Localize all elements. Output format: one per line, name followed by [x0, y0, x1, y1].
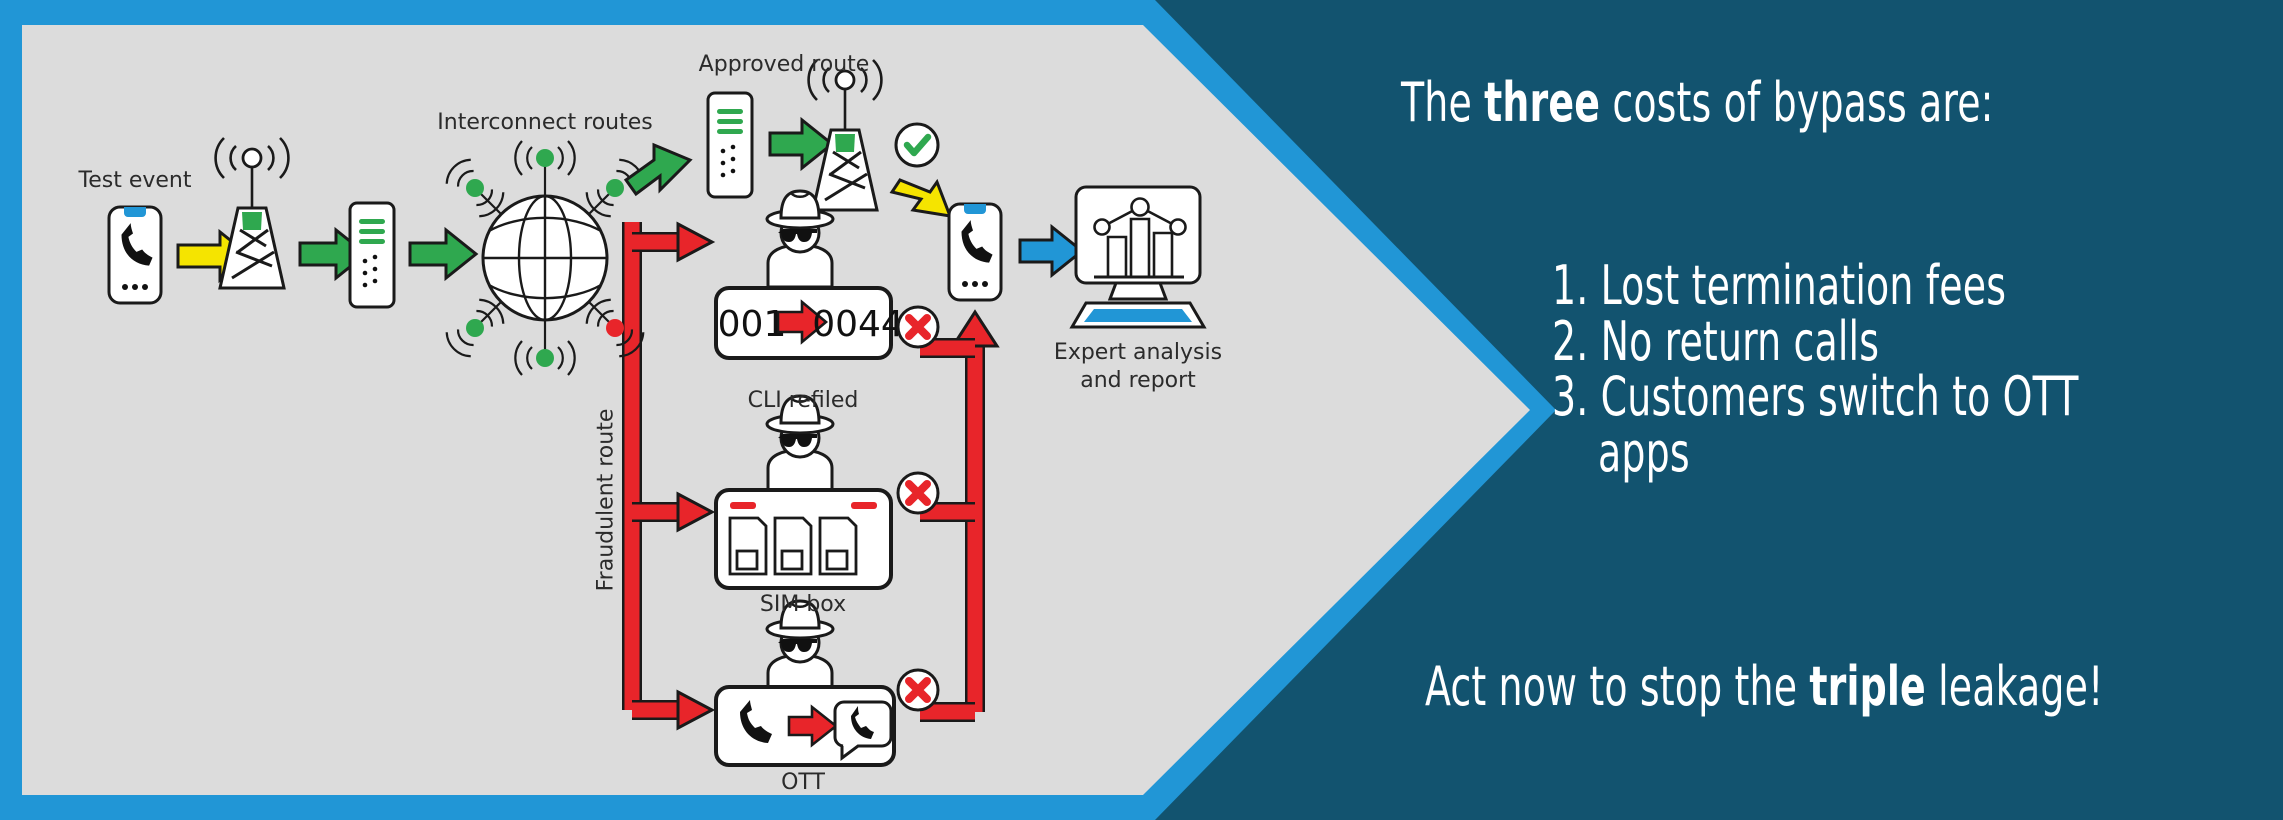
approved-check-icon: [896, 124, 938, 166]
origin-tower-icon: [216, 138, 289, 288]
costs-list-item-2: 2. No return calls: [1552, 314, 2098, 370]
expert-analysis-monitor-icon: [1072, 187, 1204, 327]
label-approved-route: Approved route: [699, 52, 870, 77]
costs-list-item-1-number: 1.: [1552, 254, 1588, 317]
sim-box-device: [716, 490, 891, 588]
origin-switch-icon: [350, 203, 394, 307]
costs-list: 1. Lost termination fees 2. No return ca…: [1552, 258, 2252, 480]
panel-cta-emphasis: triple: [1809, 655, 1926, 718]
analysis-blue-arrow-icon: [1020, 227, 1082, 275]
destination-phone-icon: [949, 204, 1001, 300]
label-fraudulent-route: Fraudulent route: [594, 409, 619, 592]
panel-cta-after: leakage!: [1926, 655, 2103, 718]
panel-heading-after: costs of bypass are:: [1600, 71, 1993, 134]
panel-heading: The three costs of bypass are:: [1401, 75, 1994, 132]
label-sim-box: SIM box: [760, 592, 846, 617]
blocked-return-path: [920, 312, 997, 712]
label-test-event: Test event: [79, 168, 192, 193]
ott-box: [716, 687, 894, 765]
label-ott: OTT: [781, 770, 825, 795]
costs-list-item-2-text: No return calls: [1601, 310, 1879, 373]
label-interconnect-routes: Interconnect routes: [437, 110, 652, 135]
label-expert-analysis-line2: and report: [1080, 368, 1196, 393]
delivery-yellow-arrow-icon: [892, 180, 950, 216]
costs-list-item-1-text: Lost termination fees: [1601, 254, 2006, 317]
bypass-flow-diagram: 001 0044: [0, 0, 1400, 820]
label-expert-analysis-line1: Expert analysis: [1054, 340, 1222, 365]
origin-phone-icon: [109, 207, 161, 303]
cli-refiled-to-value: 0044: [812, 304, 904, 345]
approved-switch-icon: [708, 93, 752, 197]
diagram-svg: 001 0044: [0, 0, 1400, 820]
panel-heading-before: The: [1401, 71, 1484, 134]
panel-cta: Act now to stop the triple leakage!: [1425, 655, 2103, 718]
slide-canvas: 001 0044: [0, 0, 2283, 820]
costs-list-item-3: 3. Customers switch to OTT: [1552, 369, 2098, 425]
green-arrow-2-icon: [410, 230, 476, 278]
panel-cta-before: Act now to stop the: [1425, 655, 1809, 718]
approved-green-arrow-icon: [626, 145, 690, 194]
panel-heading-emphasis: three: [1484, 71, 1600, 134]
costs-list-item-1: 1. Lost termination fees: [1552, 258, 2098, 314]
costs-list-item-3-continuation: apps: [1598, 425, 2108, 481]
ott-blocked-icon: [898, 670, 938, 710]
cli-refiled-blocked-icon: [898, 307, 938, 347]
costs-list-item-3-text: Customers switch to OTT: [1601, 365, 2079, 428]
costs-list-item-2-number: 2.: [1552, 310, 1588, 373]
costs-list-item-3-number: 3.: [1552, 365, 1588, 428]
label-cli-refiled: CLI refiled: [748, 388, 859, 413]
sim-box-blocked-icon: [898, 473, 938, 513]
costs-panel: The three costs of bypass are: 1. Lost t…: [1400, 0, 2260, 820]
fraudulent-route-path: [632, 222, 712, 728]
cli-refiled-from-value: 001: [718, 304, 787, 345]
